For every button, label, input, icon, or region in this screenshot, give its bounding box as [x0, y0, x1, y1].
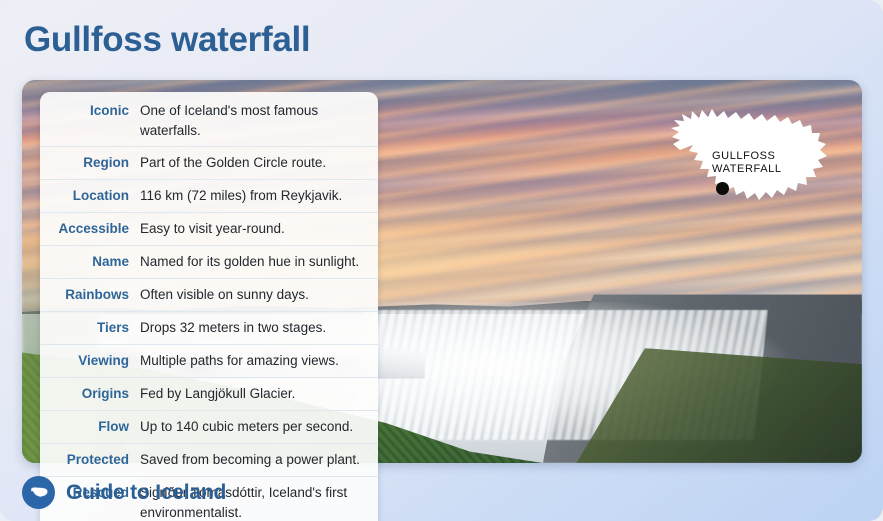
- fact-row: RegionPart of the Golden Circle route.: [40, 147, 378, 180]
- fact-label: Protected: [48, 450, 140, 470]
- fact-row: TiersDrops 32 meters in two stages.: [40, 312, 378, 345]
- fact-value: Multiple paths for amazing views.: [140, 351, 368, 371]
- iceland-map-icon: [28, 482, 50, 504]
- fact-row: OriginsFed by Langjökull Glacier.: [40, 378, 378, 411]
- fact-label: Accessible: [48, 219, 140, 239]
- fact-row: NameNamed for its golden hue in sunlight…: [40, 246, 378, 279]
- fact-label: Tiers: [48, 318, 140, 338]
- fact-value: Drops 32 meters in two stages.: [140, 318, 368, 338]
- fact-label: Name: [48, 252, 140, 272]
- fact-label: Origins: [48, 384, 140, 404]
- fact-value: Part of the Golden Circle route.: [140, 153, 368, 173]
- fact-label: Viewing: [48, 351, 140, 371]
- fact-value: One of Iceland's most famous waterfalls.: [140, 101, 368, 140]
- fact-row: IconicOne of Iceland's most famous water…: [40, 95, 378, 147]
- fact-value: 116 km (72 miles) from Reykjavik.: [140, 186, 368, 206]
- fact-value: Easy to visit year-round.: [140, 219, 368, 239]
- fact-value: Often visible on sunny days.: [140, 285, 368, 305]
- page-title: Gullfoss waterfall: [24, 20, 310, 60]
- brand-name: Guide to Iceland: [66, 481, 226, 505]
- fact-label: Flow: [48, 417, 140, 437]
- fact-row: ViewingMultiple paths for amazing views.: [40, 345, 378, 378]
- footer-brand: Guide to Iceland: [22, 476, 226, 509]
- facts-table: IconicOne of Iceland's most famous water…: [40, 92, 378, 521]
- fact-value: Up to 140 cubic meters per second.: [140, 417, 368, 437]
- fact-value: Saved from becoming a power plant.: [140, 450, 368, 470]
- fact-row: Location116 km (72 miles) from Reykjavik…: [40, 180, 378, 213]
- fact-label: Iconic: [48, 101, 140, 121]
- fact-row: RainbowsOften visible on sunny days.: [40, 279, 378, 312]
- fact-label: Location: [48, 186, 140, 206]
- brand-logo: [22, 476, 55, 509]
- fact-label: Region: [48, 153, 140, 173]
- infographic-card: Gullfoss waterfall GULLFOSS WATERFALL: [0, 0, 883, 521]
- fact-label: Rainbows: [48, 285, 140, 305]
- fact-value: Named for its golden hue in sunlight.: [140, 252, 368, 272]
- fact-row: AccessibleEasy to visit year-round.: [40, 213, 378, 246]
- fact-row: ProtectedSaved from becoming a power pla…: [40, 444, 378, 477]
- fact-value: Fed by Langjökull Glacier.: [140, 384, 368, 404]
- fact-row: FlowUp to 140 cubic meters per second.: [40, 411, 378, 444]
